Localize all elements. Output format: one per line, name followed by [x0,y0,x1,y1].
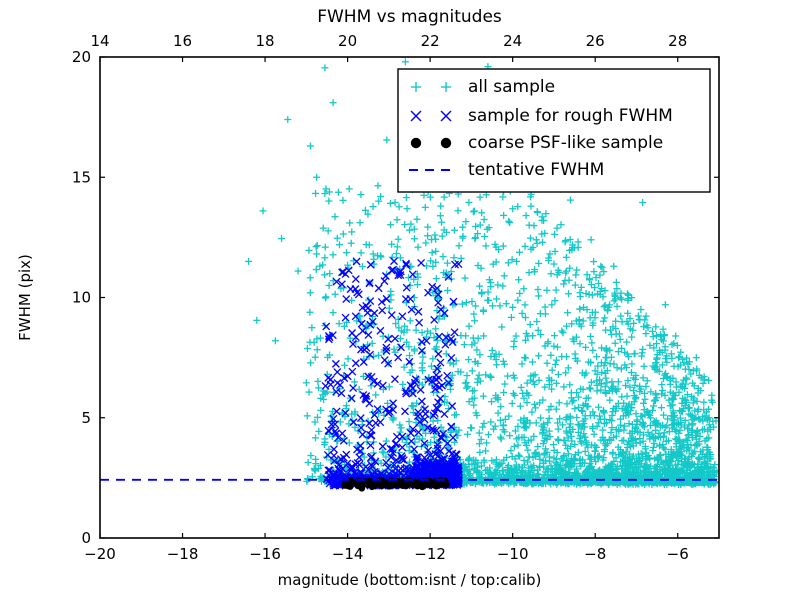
y-tick-label: 20 [72,48,91,66]
legend-label: sample for rough FWHM [468,106,673,126]
x-tick-label-top: 14 [90,32,109,50]
x-tick-label: −12 [414,545,446,563]
legend-label: coarse PSF-like sample [468,133,663,153]
x-tick-label: −6 [667,545,689,563]
x-tick-label: −20 [84,545,116,563]
dot-marker [441,138,451,148]
x-tick-label-top: 22 [421,32,440,50]
legend-label: all sample [468,77,555,97]
y-tick-label: 0 [81,529,91,547]
x-tick-label-top: 28 [668,32,687,50]
figure-canvas: −20−18−16−14−12−10−8−6141618202224262805… [0,0,800,600]
y-axis-title: FWHM (pix) [16,254,34,341]
x-tick-label: −14 [332,545,364,563]
y-tick-label: 15 [72,168,91,186]
x-tick-label: −8 [584,545,606,563]
x-axis-title: magnitude (bottom:isnt / top:calib) [278,571,542,589]
x-tick-label: −16 [249,545,281,563]
dot-marker [411,138,421,148]
chart-title: FWHM vs magnitudes [317,7,502,27]
x-tick-label-top: 16 [173,32,192,50]
x-tick-label: −10 [497,545,529,563]
x-tick-label-top: 18 [256,32,275,50]
chart-legend[interactable]: all samplesample for rough FWHMcoarse PS… [398,69,710,192]
x-tick-label-top: 26 [586,32,605,50]
x-tick-label: −18 [167,545,199,563]
x-tick-label-top: 20 [338,32,357,50]
legend-label: tentative FWHM [468,160,604,180]
y-tick-label: 5 [81,409,91,427]
x-tick-label-top: 24 [503,32,522,50]
y-tick-label: 10 [72,289,91,307]
scatter-plot: −20−18−16−14−12−10−8−6141618202224262805… [0,0,800,600]
